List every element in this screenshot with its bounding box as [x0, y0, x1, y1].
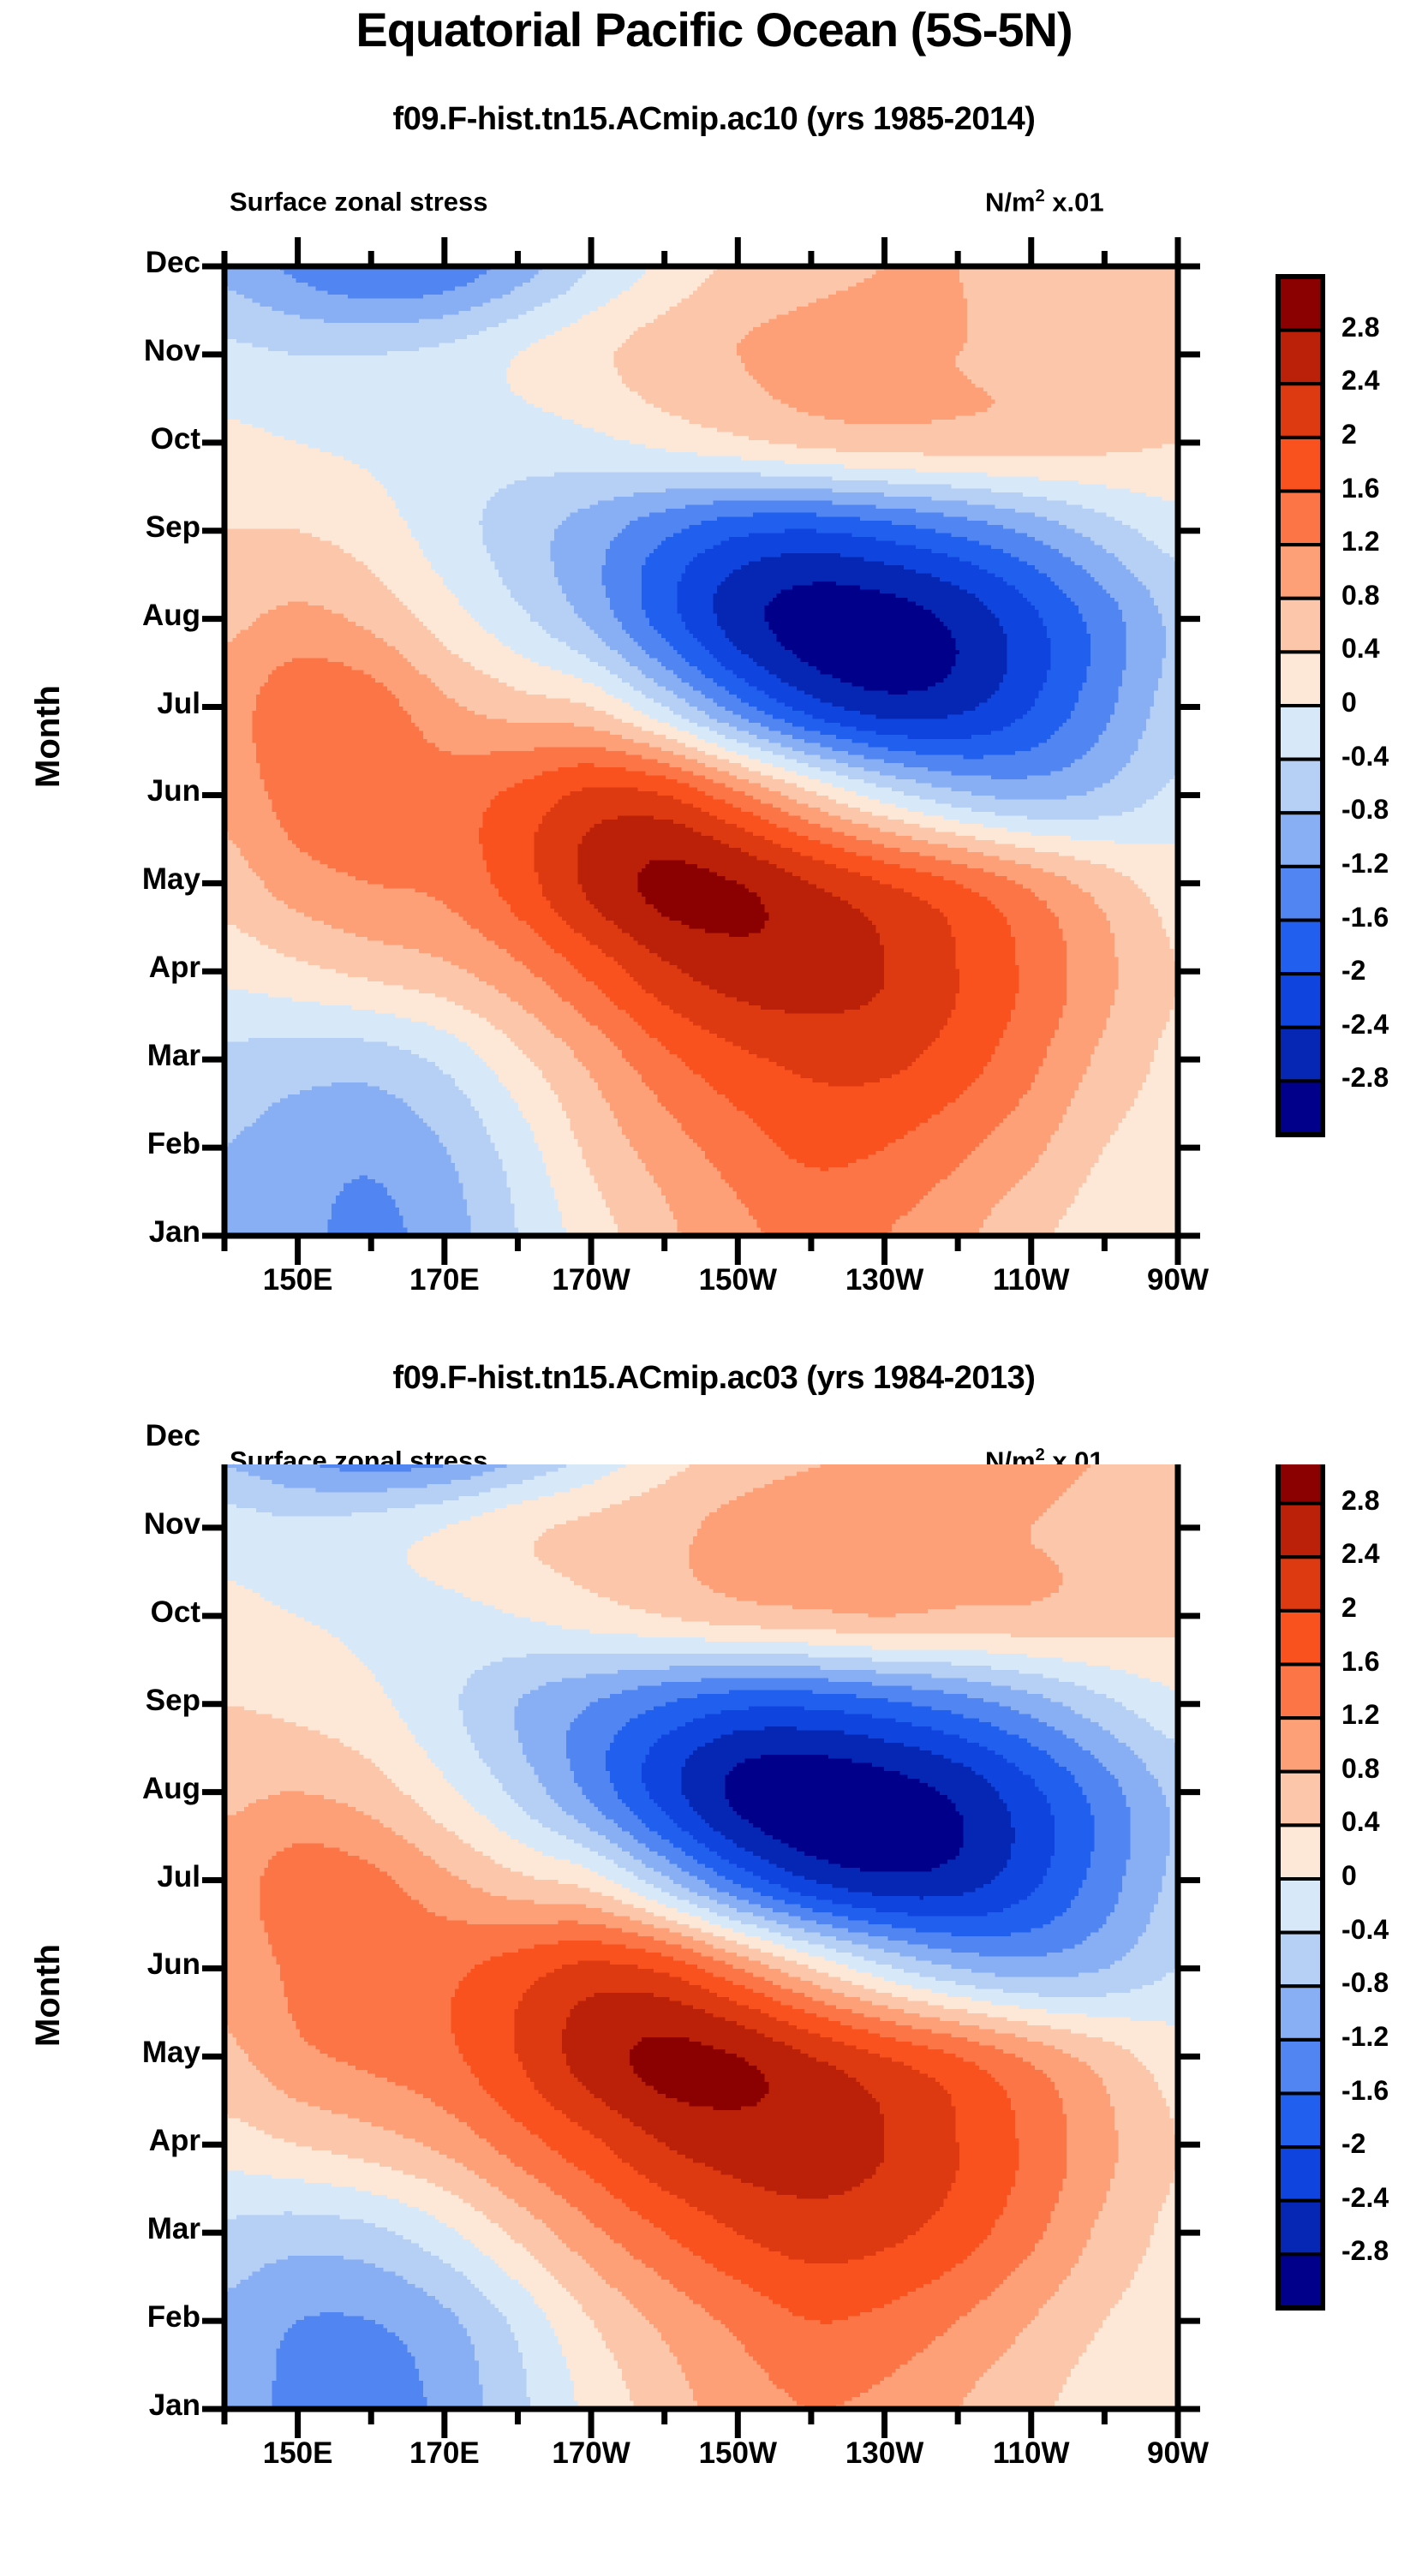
colorbar-band [1278, 2201, 1323, 2255]
colorbar-band [1278, 545, 1323, 599]
colorbar-band [1278, 1665, 1323, 1719]
colorbar-band [1278, 1504, 1323, 1558]
colorbar-band [1278, 599, 1323, 653]
colorbar-band [1278, 1718, 1323, 1772]
colorbar-band [1278, 1464, 1323, 1504]
colorbar-band [1278, 1879, 1323, 1933]
units-exponent: 2 [1036, 1446, 1045, 1464]
panel-2-subtitle: f09.F-hist.tn15.ACmip.ac03 (yrs 1984-201… [0, 1360, 1428, 1397]
colorbar-band [1278, 760, 1323, 814]
colorbar-band [1278, 1825, 1323, 1879]
colorbar-band [1278, 2040, 1323, 2094]
colorbar-band [1278, 1081, 1323, 1135]
colorbar-band [1278, 813, 1323, 867]
panel-2-plot [0, 1464, 1428, 2535]
contour-fill-area [224, 266, 1179, 1237]
colorbar-band [1278, 277, 1323, 331]
colorbar-band [1278, 331, 1323, 385]
colorbar-band [1278, 2254, 1323, 2308]
contour-fill-area [224, 1464, 1179, 2410]
colorbar-band [1278, 1028, 1323, 1082]
colorbar-band [1278, 2094, 1323, 2148]
colorbar-band [1278, 1933, 1323, 1987]
colorbar-band [1278, 438, 1323, 492]
units-exponent: 2 [1036, 187, 1045, 206]
colorbar-band [1278, 492, 1323, 546]
colorbar-band [1278, 652, 1323, 706]
y-tick-dec: Dec [63, 1419, 200, 1453]
colorbar-band [1278, 2147, 1323, 2201]
colorbar [1278, 277, 1323, 1135]
colorbar-band [1278, 867, 1323, 921]
colorbar-band [1278, 1772, 1323, 1826]
colorbar-band [1278, 921, 1323, 975]
colorbar-band [1278, 706, 1323, 760]
colorbar-band [1278, 974, 1323, 1028]
panel-1-subtitle: f09.F-hist.tn15.ACmip.ac10 (yrs 1985-201… [0, 101, 1428, 138]
panel-1-plot [0, 206, 1428, 1276]
colorbar-band [1278, 1611, 1323, 1665]
colorbar [1278, 1464, 1323, 2308]
figure-canvas: Equatorial Pacific Ocean (5S-5N) f09.F-h… [0, 0, 1428, 2576]
page-title: Equatorial Pacific Ocean (5S-5N) [0, 2, 1428, 57]
colorbar-band [1278, 1557, 1323, 1611]
colorbar-band [1278, 1986, 1323, 2040]
colorbar-band [1278, 384, 1323, 438]
